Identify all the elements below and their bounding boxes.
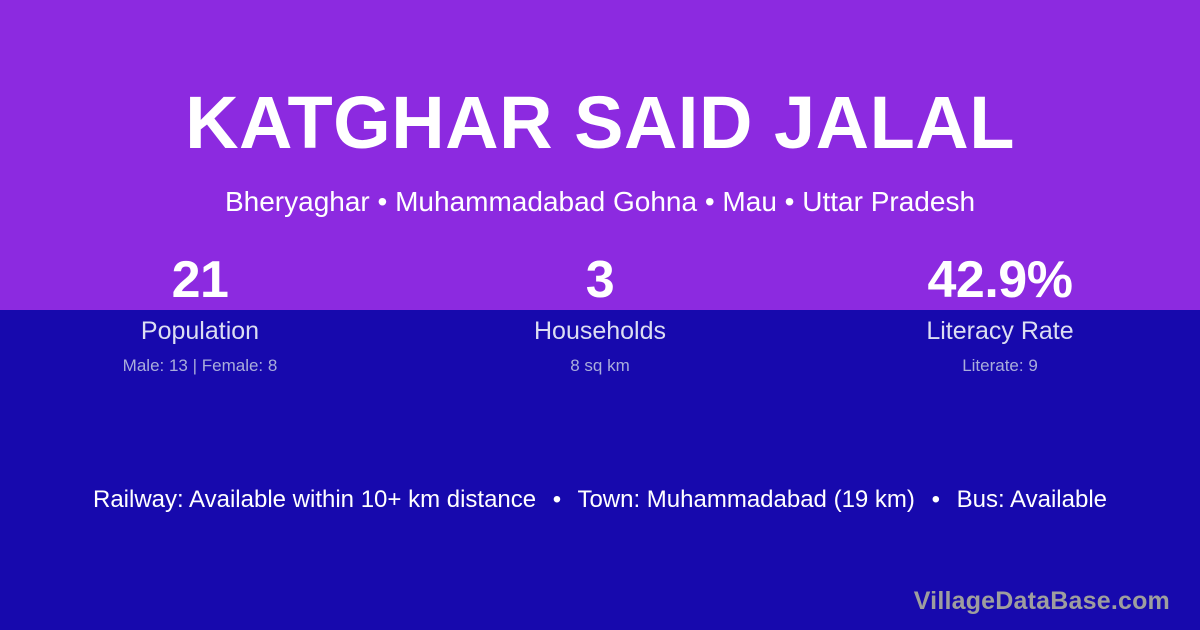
stat-households-value: 3 (400, 252, 800, 310)
fact-town: Town: Muhammadabad (19 km) (577, 486, 914, 513)
stat-population-sub: Male: 13 | Female: 8 (0, 346, 400, 377)
village-info-card: KATGHAR SAID JALAL Bheryaghar • Muhammad… (0, 0, 1200, 630)
header: KATGHAR SAID JALAL Bheryaghar • Muhammad… (0, 0, 1200, 216)
stat-population-label: Population (0, 310, 400, 346)
stat-literacy-rate-value: 42.9% (800, 252, 1200, 310)
fact-bus: Bus: Available (957, 486, 1107, 513)
stat-literacy-rate-label: Literacy Rate (800, 310, 1200, 346)
facts-line: Railway: Available within 10+ km distanc… (0, 484, 1200, 516)
stat-literacy-rate-sub: Literate: 9 (800, 346, 1200, 377)
fact-railway: Railway: Available within 10+ km distanc… (93, 486, 536, 513)
stat-households-label: Households (400, 310, 800, 346)
stat-population: 21 Population Male: 13 | Female: 8 (0, 252, 400, 377)
stats-row: 21 Population Male: 13 | Female: 8 3 Hou… (0, 252, 1200, 377)
site-brand: VillageDataBase.com (914, 586, 1170, 616)
fact-separator-2: • (922, 484, 950, 516)
page-title: KATGHAR SAID JALAL (0, 0, 1200, 160)
fact-separator-1: • (543, 484, 571, 516)
stat-literacy-rate: 42.9% Literacy Rate Literate: 9 (800, 252, 1200, 377)
stat-households-sub: 8 sq km (400, 346, 800, 377)
breadcrumb: Bheryaghar • Muhammadabad Gohna • Mau • … (0, 160, 1200, 216)
stat-households: 3 Households 8 sq km (400, 252, 800, 377)
stat-population-value: 21 (0, 252, 400, 310)
